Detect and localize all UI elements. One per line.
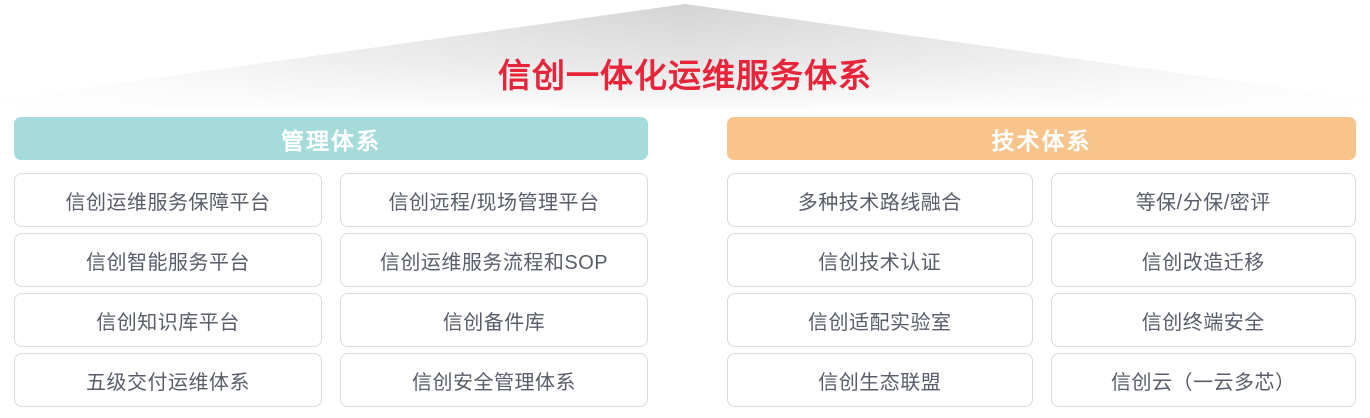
list-item[interactable]: 五级交付运维体系 [14,353,322,407]
pillars-container: 管理体系 信创运维服务保障平台 信创远程/现场管理平台 信创智能服务平台 信创运… [0,117,1370,418]
list-item[interactable]: 信创智能服务平台 [14,233,322,287]
list-item[interactable]: 信创运维服务流程和SOP [340,233,648,287]
list-item[interactable]: 信创安全管理体系 [340,353,648,407]
page-title: 信创一体化运维服务体系 [0,54,1370,98]
list-item[interactable]: 信创运维服务保障平台 [14,173,322,227]
list-item[interactable]: 信创远程/现场管理平台 [340,173,648,227]
list-item[interactable]: 信创备件库 [340,293,648,347]
list-item[interactable]: 信创知识库平台 [14,293,322,347]
list-item[interactable]: 多种技术路线融合 [727,173,1033,227]
list-item[interactable]: 信创适配实验室 [727,293,1033,347]
pillar-grid-technology: 多种技术路线融合 等保/分保/密评 信创技术认证 信创改造迁移 信创适配实验室 … [727,173,1356,407]
list-item[interactable]: 信创云（一云多芯） [1051,353,1357,407]
pillar-grid-management: 信创运维服务保障平台 信创远程/现场管理平台 信创智能服务平台 信创运维服务流程… [14,173,648,407]
list-item[interactable]: 信创技术认证 [727,233,1033,287]
pillar-header-management: 管理体系 [14,117,648,160]
pillar-management: 管理体系 信创运维服务保障平台 信创远程/现场管理平台 信创智能服务平台 信创运… [14,117,648,407]
list-item[interactable]: 等保/分保/密评 [1051,173,1357,227]
list-item[interactable]: 信创终端安全 [1051,293,1357,347]
pillar-technology: 技术体系 多种技术路线融合 等保/分保/密评 信创技术认证 信创改造迁移 信创适… [727,117,1356,407]
list-item[interactable]: 信创改造迁移 [1051,233,1357,287]
list-item[interactable]: 信创生态联盟 [727,353,1033,407]
pillar-header-technology: 技术体系 [727,117,1356,160]
